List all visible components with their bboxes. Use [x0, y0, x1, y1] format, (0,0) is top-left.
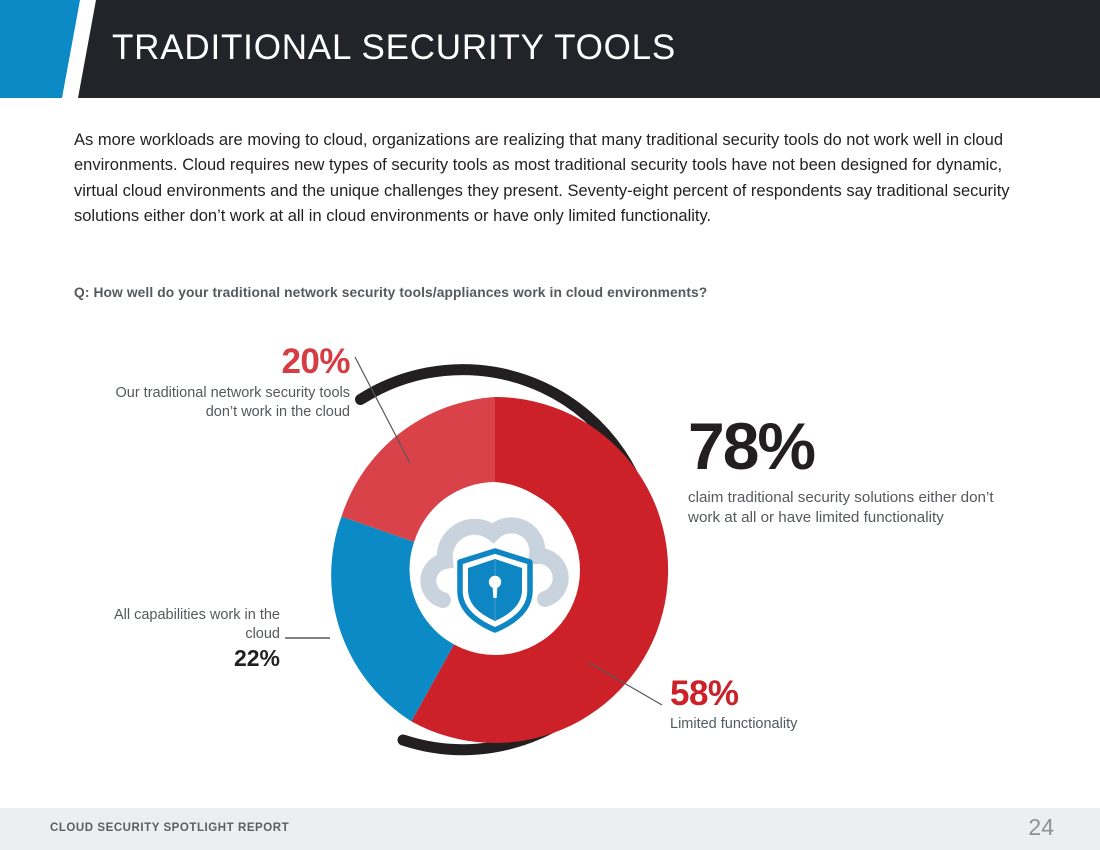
donut-chart: 20% Our traditional network security too…	[0, 320, 1100, 790]
leader-line-20	[355, 357, 410, 463]
callout-limited-functionality: 58% Limited functionality	[670, 675, 970, 733]
callout-22-percent: 22%	[80, 644, 280, 672]
callout-20-percent: 20%	[110, 342, 350, 382]
page-header: TRADITIONAL SECURITY TOOLS	[0, 0, 1100, 98]
callout-20-description: Our traditional network security tools d…	[110, 384, 350, 421]
callout-58-percent: 58%	[670, 675, 970, 713]
callout-22-description: All capabilities work in the cloud	[80, 606, 280, 643]
callout-all-capabilities: All capabilities work in the cloud 22%	[80, 606, 280, 672]
page-title: TRADITIONAL SECURITY TOOLS	[112, 28, 676, 68]
callout-tools-dont-work: 20% Our traditional network security too…	[110, 342, 350, 421]
intro-paragraph: As more workloads are moving to cloud, o…	[74, 128, 1026, 230]
footer-page-number: 24	[1028, 814, 1054, 841]
callout-58-description: Limited functionality	[670, 715, 970, 733]
callout-78-description: claim traditional security solutions eit…	[688, 488, 1018, 527]
footer-report-label: CLOUD SECURITY SPOTLIGHT REPORT	[50, 822, 289, 834]
callout-78-percent: 78%	[688, 413, 1018, 479]
page-footer: CLOUD SECURITY SPOTLIGHT REPORT 24	[0, 808, 1100, 850]
survey-question: Q: How well do your traditional network …	[74, 285, 707, 300]
callout-total-78: 78% claim traditional security solutions…	[688, 413, 1018, 527]
